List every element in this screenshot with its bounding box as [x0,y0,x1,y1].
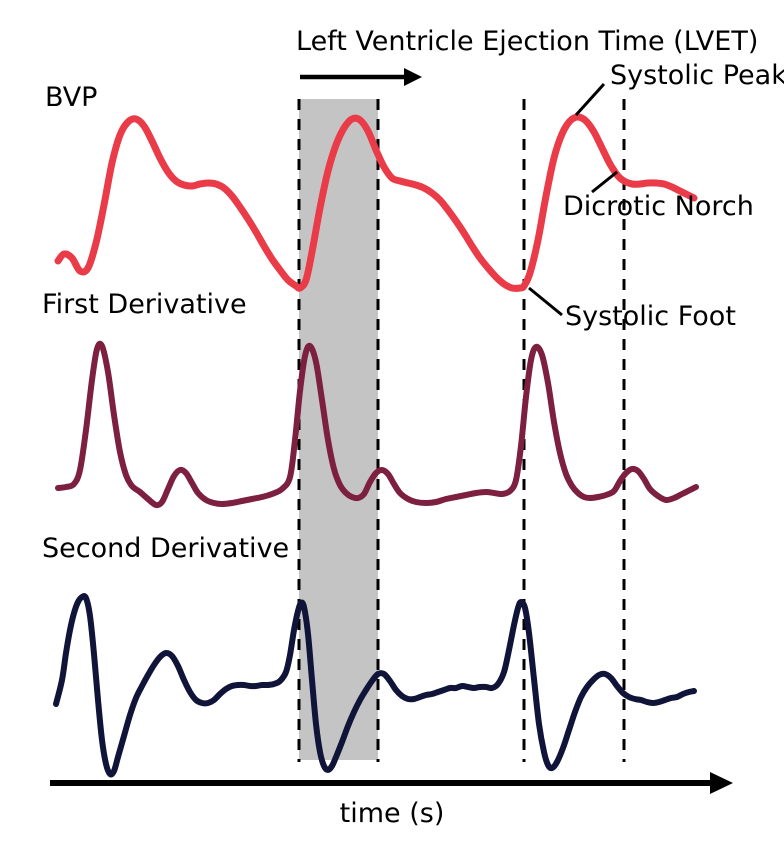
first-derivative-label: First Derivative [42,291,247,318]
leader-dicrotic-notch [592,172,617,192]
second-derivative-label: Second Derivative [42,535,289,562]
time-axis-label: time (s) [0,800,784,827]
systolic-peak-label: Systolic Peak [610,62,784,89]
leader-systolic-peak [576,84,604,115]
bvp-series-label: BVP [45,84,97,111]
leader-systolic-foot [529,288,562,315]
lvet-span-arrow [300,68,422,86]
time-axis-arrow [50,772,733,794]
signal-plot-canvas [0,0,784,856]
dicrotic-notch-label: Dicrotic Norch [563,193,754,220]
lvet-arrow-head [404,68,422,86]
bvp-derivatives-figure: Left Ventricle Ejection Time (LVET) BVP … [0,0,784,856]
systolic-foot-label: Systolic Foot [565,303,736,330]
time-axis-arrow-head [710,772,733,794]
lvet-label: Left Ventricle Ejection Time (LVET) [296,28,758,55]
